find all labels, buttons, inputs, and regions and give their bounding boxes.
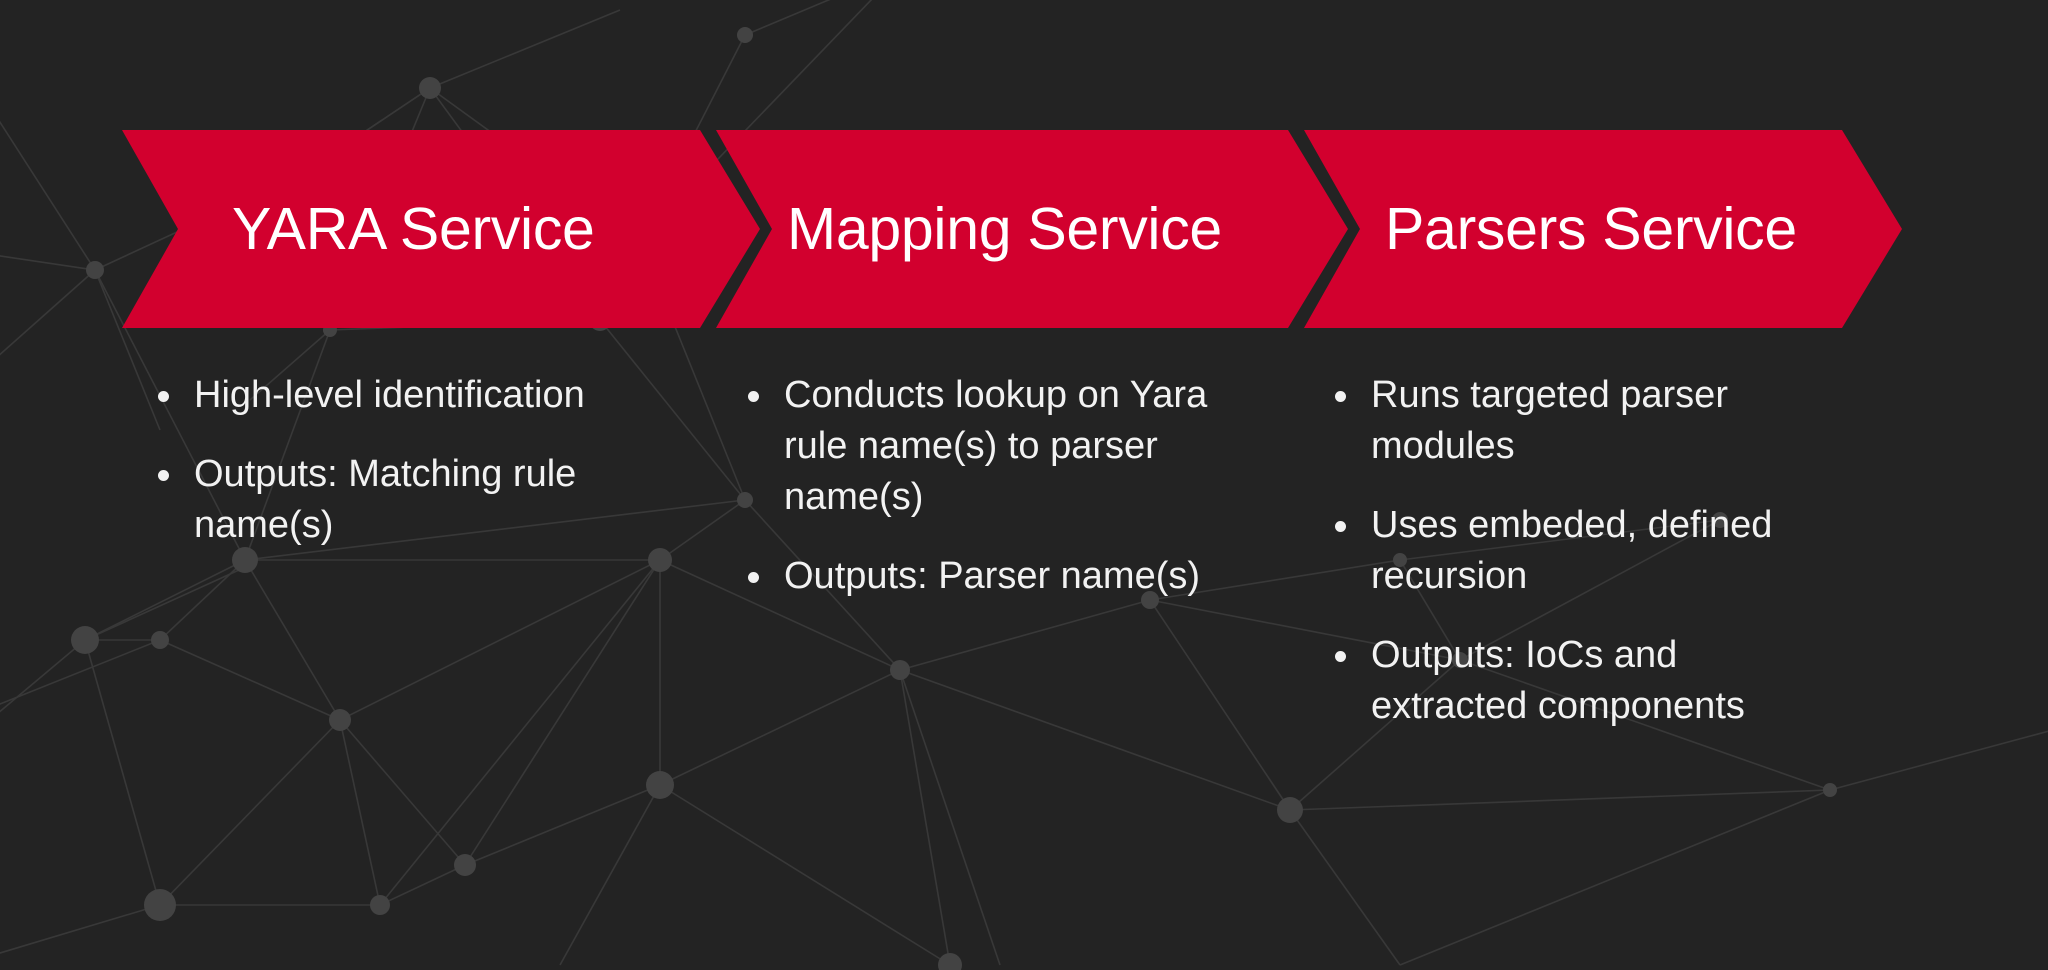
chevron-title-text: Mapping Service — [787, 195, 1222, 263]
bullet-text: Conducts lookup on Yara rule name(s) to … — [784, 370, 1248, 523]
bullet-dot-icon — [1335, 391, 1346, 402]
bullet-text: Outputs: IoCs and extracted components — [1371, 630, 1835, 732]
bullet-dot-icon — [1335, 521, 1346, 532]
bullet-dot-icon — [1335, 651, 1346, 662]
bullet-text: Runs targeted parser modules — [1371, 370, 1835, 472]
bullet-dot-icon — [158, 391, 169, 402]
list-item: High-level identification — [158, 370, 658, 421]
chevron-title-text: YARA Service — [232, 195, 595, 263]
bullet-column-yara: High-level identification Outputs: Match… — [158, 370, 658, 579]
chevron-title-mapping: Mapping Service — [787, 130, 1222, 328]
list-item: Uses embeded, defined recursion — [1335, 500, 1835, 602]
list-item: Runs targeted parser modules — [1335, 370, 1835, 472]
bullet-text: High-level identification — [194, 370, 585, 421]
chevron-title-parsers: Parsers Service — [1385, 130, 1797, 328]
chevron-title-text: Parsers Service — [1385, 195, 1797, 263]
bullet-text: Uses embeded, defined recursion — [1371, 500, 1835, 602]
bullet-dot-icon — [748, 391, 759, 402]
list-item: Conducts lookup on Yara rule name(s) to … — [748, 370, 1248, 523]
list-item: Outputs: Matching rule name(s) — [158, 449, 658, 551]
slide-canvas: YARA Service Mapping Service Parsers Ser… — [0, 0, 2048, 970]
bullet-column-mapping: Conducts lookup on Yara rule name(s) to … — [748, 370, 1248, 630]
bullet-text: Outputs: Parser name(s) — [784, 551, 1200, 602]
bullet-column-parsers: Runs targeted parser modules Uses embede… — [1335, 370, 1835, 760]
bullet-dot-icon — [158, 470, 169, 481]
chevron-title-yara: YARA Service — [232, 130, 595, 328]
bullet-text: Outputs: Matching rule name(s) — [194, 449, 658, 551]
list-item: Outputs: Parser name(s) — [748, 551, 1248, 602]
bullet-dot-icon — [748, 572, 759, 583]
list-item: Outputs: IoCs and extracted components — [1335, 630, 1835, 732]
